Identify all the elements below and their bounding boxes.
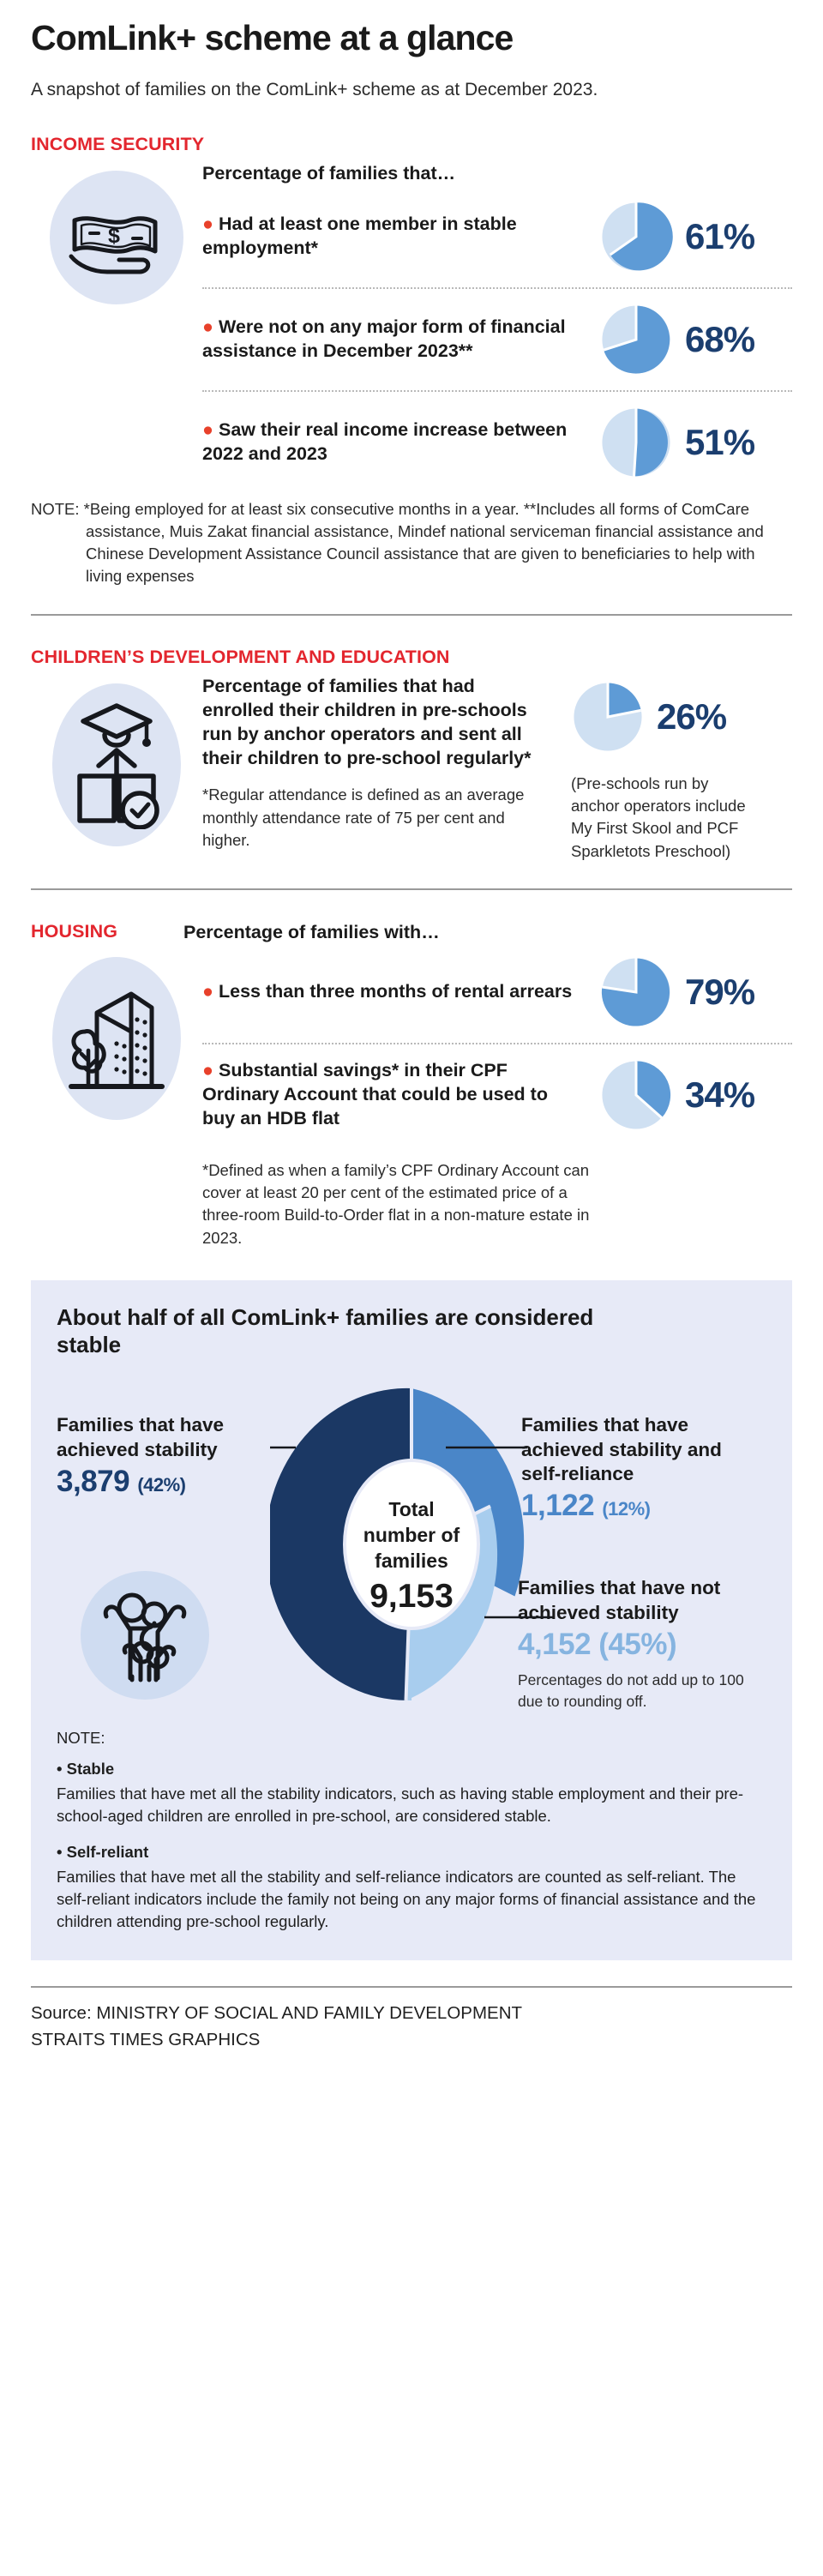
income-note-line-1: *Being employed for at least six consecu… (84, 500, 520, 518)
donut-center-total: 9,153 (369, 1578, 454, 1615)
housing-header-row: HOUSING Percentage of families with… (31, 921, 792, 945)
donut-center-line-2: number of (363, 1524, 460, 1546)
pie-chart-34 (599, 1058, 673, 1132)
pie-chart-51 (599, 406, 673, 479)
housing-block: ● Less than three months of rental arrea… (31, 948, 792, 1249)
housing-row-2-value: 34% (685, 1077, 754, 1113)
rounding-note: Percentages do not add up to 100 due to … (518, 1670, 766, 1711)
children-stat: 26% (571, 680, 777, 754)
income-row-2-stat: 68% (599, 303, 792, 376)
family-celebrating-icon (81, 1571, 209, 1700)
income-icon-col: $ (31, 162, 202, 304)
children-stat-col: 26% (Pre-schools run by anchor operators… (571, 675, 777, 863)
donut-chart: Total number of families 9,153 (270, 1377, 553, 1712)
donut-label-left-value: 3,879 (42%) (57, 1466, 255, 1499)
donut-label-right-bottom-title: Families that have not achieved stabilit… (518, 1576, 766, 1625)
panel-title: About half of all ComLink+ families are … (57, 1304, 605, 1358)
donut-label-right-bottom: Families that have not achieved stabilit… (518, 1576, 766, 1711)
panel-note-stable-body: Families that have met all the stability… (57, 1783, 766, 1828)
income-content: Percentage of families that… ● Had at le… (202, 162, 792, 493)
donut-center-line-3: families (375, 1550, 448, 1572)
housing-content: ● Less than three months of rental arrea… (202, 948, 792, 1249)
housing-row-2-label: Substantial savings* in their CPF Ordina… (202, 1060, 548, 1129)
donut-area: Families that have achieved stability 3,… (57, 1365, 766, 1725)
income-row-3-label: Saw their real income increase between 2… (202, 419, 567, 464)
income-row-2: ● Were not on any major form of financia… (202, 287, 792, 390)
income-block: $ Percentage of families that… ● Had at … (31, 162, 792, 493)
children-lead: Percentage of families that had enrolled… (202, 675, 550, 771)
source-line-2: STRAITS TIMES GRAPHICS (31, 2028, 792, 2053)
pie-chart-68 (599, 303, 673, 376)
housing-row-1-stat: 79% (599, 955, 792, 1029)
housing-row-2-stat: 34% (599, 1058, 792, 1132)
panel-note-stable-heading: • Stable (57, 1758, 766, 1780)
income-row-3: ● Saw their real income increase between… (202, 390, 792, 493)
income-note-label: NOTE: (31, 500, 80, 518)
bullet-marker: ● (202, 316, 213, 337)
income-row-3-stat: 51% (599, 406, 792, 479)
donut-label-right-top: Families that have achieved stability an… (521, 1413, 766, 1523)
housing-row-1: ● Less than three months of rental arrea… (202, 948, 792, 1043)
income-row-1-value: 61% (685, 219, 754, 255)
housing-icon-col (31, 948, 202, 1120)
page-title: ComLink+ scheme at a glance (31, 0, 792, 58)
income-row-1-text: ● Had at least one member in stable empl… (202, 213, 591, 261)
children-icon-col (31, 675, 202, 846)
income-row-2-label: Were not on any major form of financial … (202, 316, 566, 361)
children-block: Percentage of families that had enrolled… (31, 675, 792, 863)
footer-divider (31, 1986, 792, 1988)
income-row-2-value: 68% (685, 322, 754, 358)
panel-note-selfreliant-heading: • Self-reliant (57, 1841, 766, 1863)
money-note-icon: $ (50, 171, 183, 304)
housing-row-2: ● Substantial savings* in their CPF Ordi… (202, 1043, 792, 1146)
housing-row-1-label: Less than three months of rental arrears (219, 981, 572, 1002)
building-tree-icon (52, 957, 181, 1120)
left-value-pct: (42%) (137, 1474, 185, 1496)
donut-center-line-1: Total (388, 1498, 434, 1520)
infographic-page: ComLink+ scheme at a glance A snapshot o… (0, 0, 823, 2087)
housing-row-1-value: 79% (685, 974, 754, 1010)
bullet-marker: ● (202, 981, 213, 1002)
donut-label-left: Families that have achieved stability 3,… (57, 1413, 255, 1498)
income-row-3-value: 51% (685, 424, 754, 460)
donut-label-right-top-value: 1,122 (12%) (521, 1490, 766, 1523)
income-row-1-stat: 61% (599, 200, 792, 274)
pie-chart-79 (599, 955, 673, 1029)
left-value-number: 3,879 (57, 1465, 129, 1498)
income-row-2-text: ● Were not on any major form of financia… (202, 316, 591, 364)
income-row-1: ● Had at least one member in stable empl… (202, 186, 792, 287)
income-note: NOTE: *Being employed for at least six c… (31, 498, 768, 588)
section-kicker-children: CHILDREN’S DEVELOPMENT AND EDUCATION (31, 647, 792, 668)
section-kicker-housing: HOUSING (31, 921, 159, 942)
graduate-book-icon (52, 683, 181, 846)
stability-panel: About half of all ComLink+ families are … (31, 1280, 792, 1961)
section-kicker-income: INCOME SECURITY (31, 134, 792, 155)
page-subtitle: A snapshot of families on the ComLink+ s… (31, 77, 682, 103)
donut-label-right-bottom-value: 4,152 (45%) (518, 1628, 766, 1662)
panel-note-label: NOTE: (57, 1727, 766, 1749)
children-footnote: *Regular attendance is defined as an ave… (202, 784, 550, 852)
children-paren-note: (Pre-schools run by anchor operators inc… (571, 773, 760, 863)
section-divider-1 (31, 614, 792, 616)
svg-text:$: $ (108, 224, 120, 248)
pie-chart-61 (599, 200, 673, 274)
income-lead: Percentage of families that… (202, 162, 792, 186)
housing-row-2-text: ● Substantial savings* in their CPF Ordi… (202, 1059, 591, 1131)
section-divider-2 (31, 888, 792, 890)
pie-chart-26 (571, 680, 645, 754)
bullet-marker: ● (202, 214, 213, 234)
bullet-marker: ● (202, 419, 213, 440)
right1-value-pct: (12%) (602, 1498, 650, 1520)
donut-label-left-title: Families that have achieved stability (57, 1413, 255, 1462)
donut-label-right-top-title: Families that have achieved stability an… (521, 1413, 766, 1486)
housing-footnote: *Defined as when a family’s CPF Ordinary… (202, 1159, 605, 1249)
children-value: 26% (657, 699, 726, 735)
income-row-1-label: Had at least one member in stable employ… (202, 214, 517, 258)
housing-row-1-text: ● Less than three months of rental arrea… (202, 980, 591, 1004)
panel-note: NOTE: • Stable Families that have met al… (57, 1727, 766, 1933)
income-row-3-text: ● Saw their real income increase between… (202, 418, 591, 466)
bullet-marker: ● (202, 1060, 213, 1080)
housing-lead: Percentage of families with… (183, 921, 440, 945)
panel-note-selfreliant-body: Families that have met all the stability… (57, 1866, 766, 1934)
source-line-1: Source: MINISTRY OF SOCIAL AND FAMILY DE… (31, 2001, 792, 2026)
children-text-col: Percentage of families that had enrolled… (202, 675, 571, 852)
